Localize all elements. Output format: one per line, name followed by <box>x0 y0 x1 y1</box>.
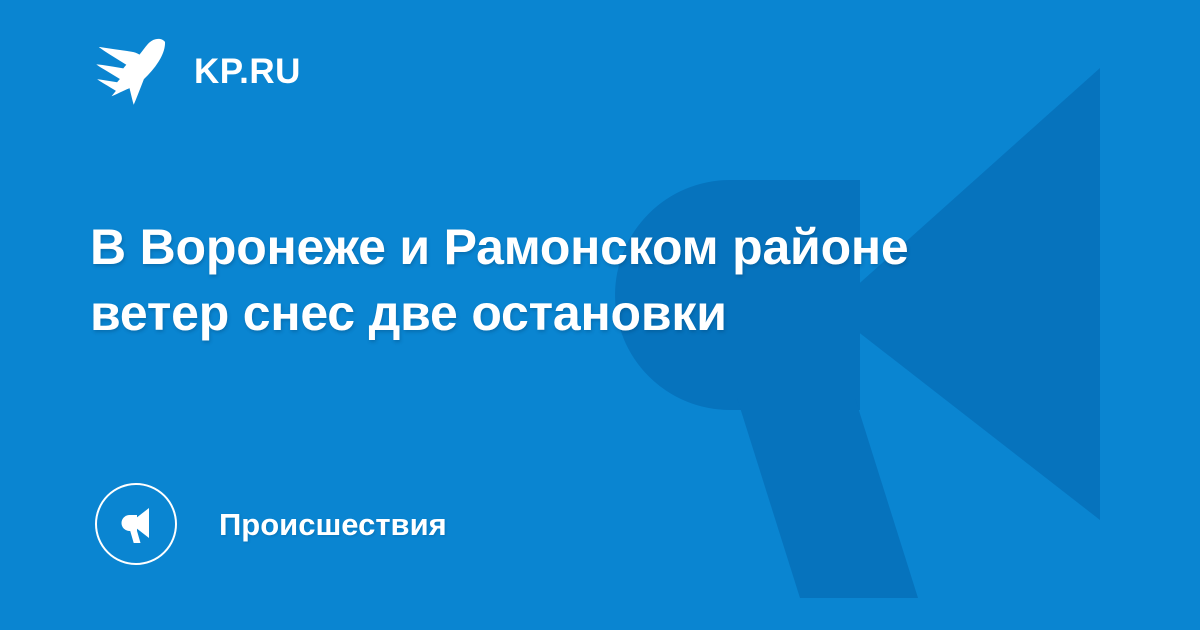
category-icon-circle <box>95 483 177 565</box>
headline-line-2: ветер снес две остановки <box>90 280 1090 346</box>
megaphone-icon <box>113 501 159 547</box>
swallow-bird-icon <box>92 36 170 106</box>
brand-header: KP.RU <box>92 36 301 106</box>
social-share-card: KP.RU В Воронеже и Рамонском районе вете… <box>0 0 1200 630</box>
page-title: В Воронеже и Рамонском районе ветер снес… <box>90 214 1090 346</box>
brand-name: KP.RU <box>194 54 301 89</box>
headline-line-1: В Воронеже и Рамонском районе <box>90 214 1090 280</box>
category-badge[interactable]: Происшествия <box>95 482 447 566</box>
category-label: Происшествия <box>219 509 447 540</box>
